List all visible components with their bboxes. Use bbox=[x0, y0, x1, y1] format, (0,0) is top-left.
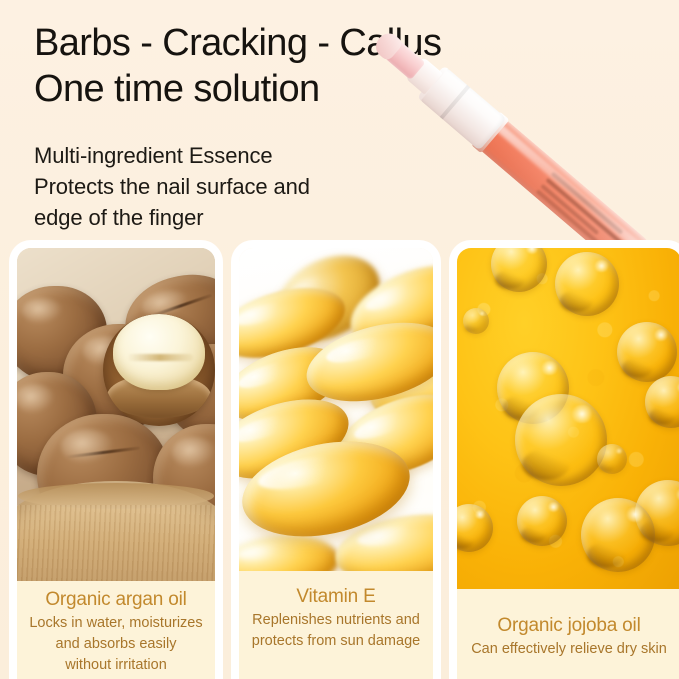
ingredient-title: Organic jojoba oil bbox=[465, 613, 673, 638]
card-caption: Vitamin E Replenishes nutrients and prot… bbox=[239, 571, 433, 652]
oil-bubble bbox=[617, 322, 677, 382]
ingredient-title: Vitamin E bbox=[247, 584, 425, 609]
wood-grain-texture bbox=[17, 505, 215, 581]
description-line-2: and absorbs easily bbox=[25, 634, 207, 655]
page-subtitle: Multi-ingredient Essence Protects the na… bbox=[34, 140, 394, 233]
nut-kernel bbox=[113, 314, 205, 390]
ingredient-card-organic-argan-oil: Organic argan oil Locks in water, moistu… bbox=[9, 240, 223, 679]
oil-bubble bbox=[515, 394, 607, 486]
headline-line-2: One time solution bbox=[34, 66, 554, 112]
description-line-3: without irritation bbox=[25, 655, 207, 676]
oil-bubble bbox=[581, 498, 655, 572]
jojoba-oil-photo bbox=[457, 248, 679, 589]
description-line-1: Can effectively relieve dry skin bbox=[465, 639, 673, 660]
oil-bubble bbox=[555, 252, 619, 316]
subtitle-line-2: Protects the nail surface and bbox=[34, 171, 394, 202]
card-caption: Organic argan oil Locks in water, moistu… bbox=[17, 581, 215, 676]
pen-ring-joint bbox=[471, 111, 509, 153]
ingredient-cards: Organic argan oil Locks in water, moistu… bbox=[0, 240, 679, 679]
page-title: Barbs - Cracking - Callus One time solut… bbox=[34, 20, 554, 112]
ingredient-description: Locks in water, moisturizes and absorbs … bbox=[25, 613, 207, 676]
ingredient-title: Organic argan oil bbox=[25, 587, 207, 612]
label-text-line bbox=[546, 178, 628, 249]
oil-bubble bbox=[517, 496, 567, 546]
subtitle-line-3: edge of the finger bbox=[34, 202, 394, 233]
label-text-line bbox=[551, 172, 624, 235]
headline-line-1: Barbs - Cracking - Callus bbox=[34, 22, 441, 64]
wooden-bowl bbox=[17, 481, 215, 581]
subtitle-line-1: Multi-ingredient Essence bbox=[34, 140, 394, 171]
card-caption: Organic jojoba oil Can effectively relie… bbox=[457, 589, 679, 660]
ingredient-description: Replenishes nutrients and protects from … bbox=[247, 610, 425, 652]
ingredient-description: Can effectively relieve dry skin bbox=[465, 639, 673, 660]
softgel-capsules-photo bbox=[239, 248, 433, 571]
description-line-1: Locks in water, moisturizes bbox=[25, 613, 207, 634]
product-infographic-poster: Barbs - Cracking - Callus One time solut… bbox=[0, 0, 679, 679]
macadamia-nuts-photo bbox=[17, 248, 215, 581]
description-line-1: Replenishes nutrients and bbox=[247, 610, 425, 631]
cracked-nut-with-kernel bbox=[103, 314, 215, 426]
oil-bubble bbox=[463, 308, 489, 334]
label-text-line bbox=[540, 184, 599, 235]
ingredient-card-vitamin-e: Vitamin E Replenishes nutrients and prot… bbox=[231, 240, 441, 679]
softgel-capsule bbox=[239, 530, 342, 571]
ingredient-card-organic-jojoba-oil: Organic jojoba oil Can effectively relie… bbox=[449, 240, 679, 679]
oil-bubble bbox=[597, 444, 627, 474]
description-line-2: protects from sun damage bbox=[247, 631, 425, 652]
